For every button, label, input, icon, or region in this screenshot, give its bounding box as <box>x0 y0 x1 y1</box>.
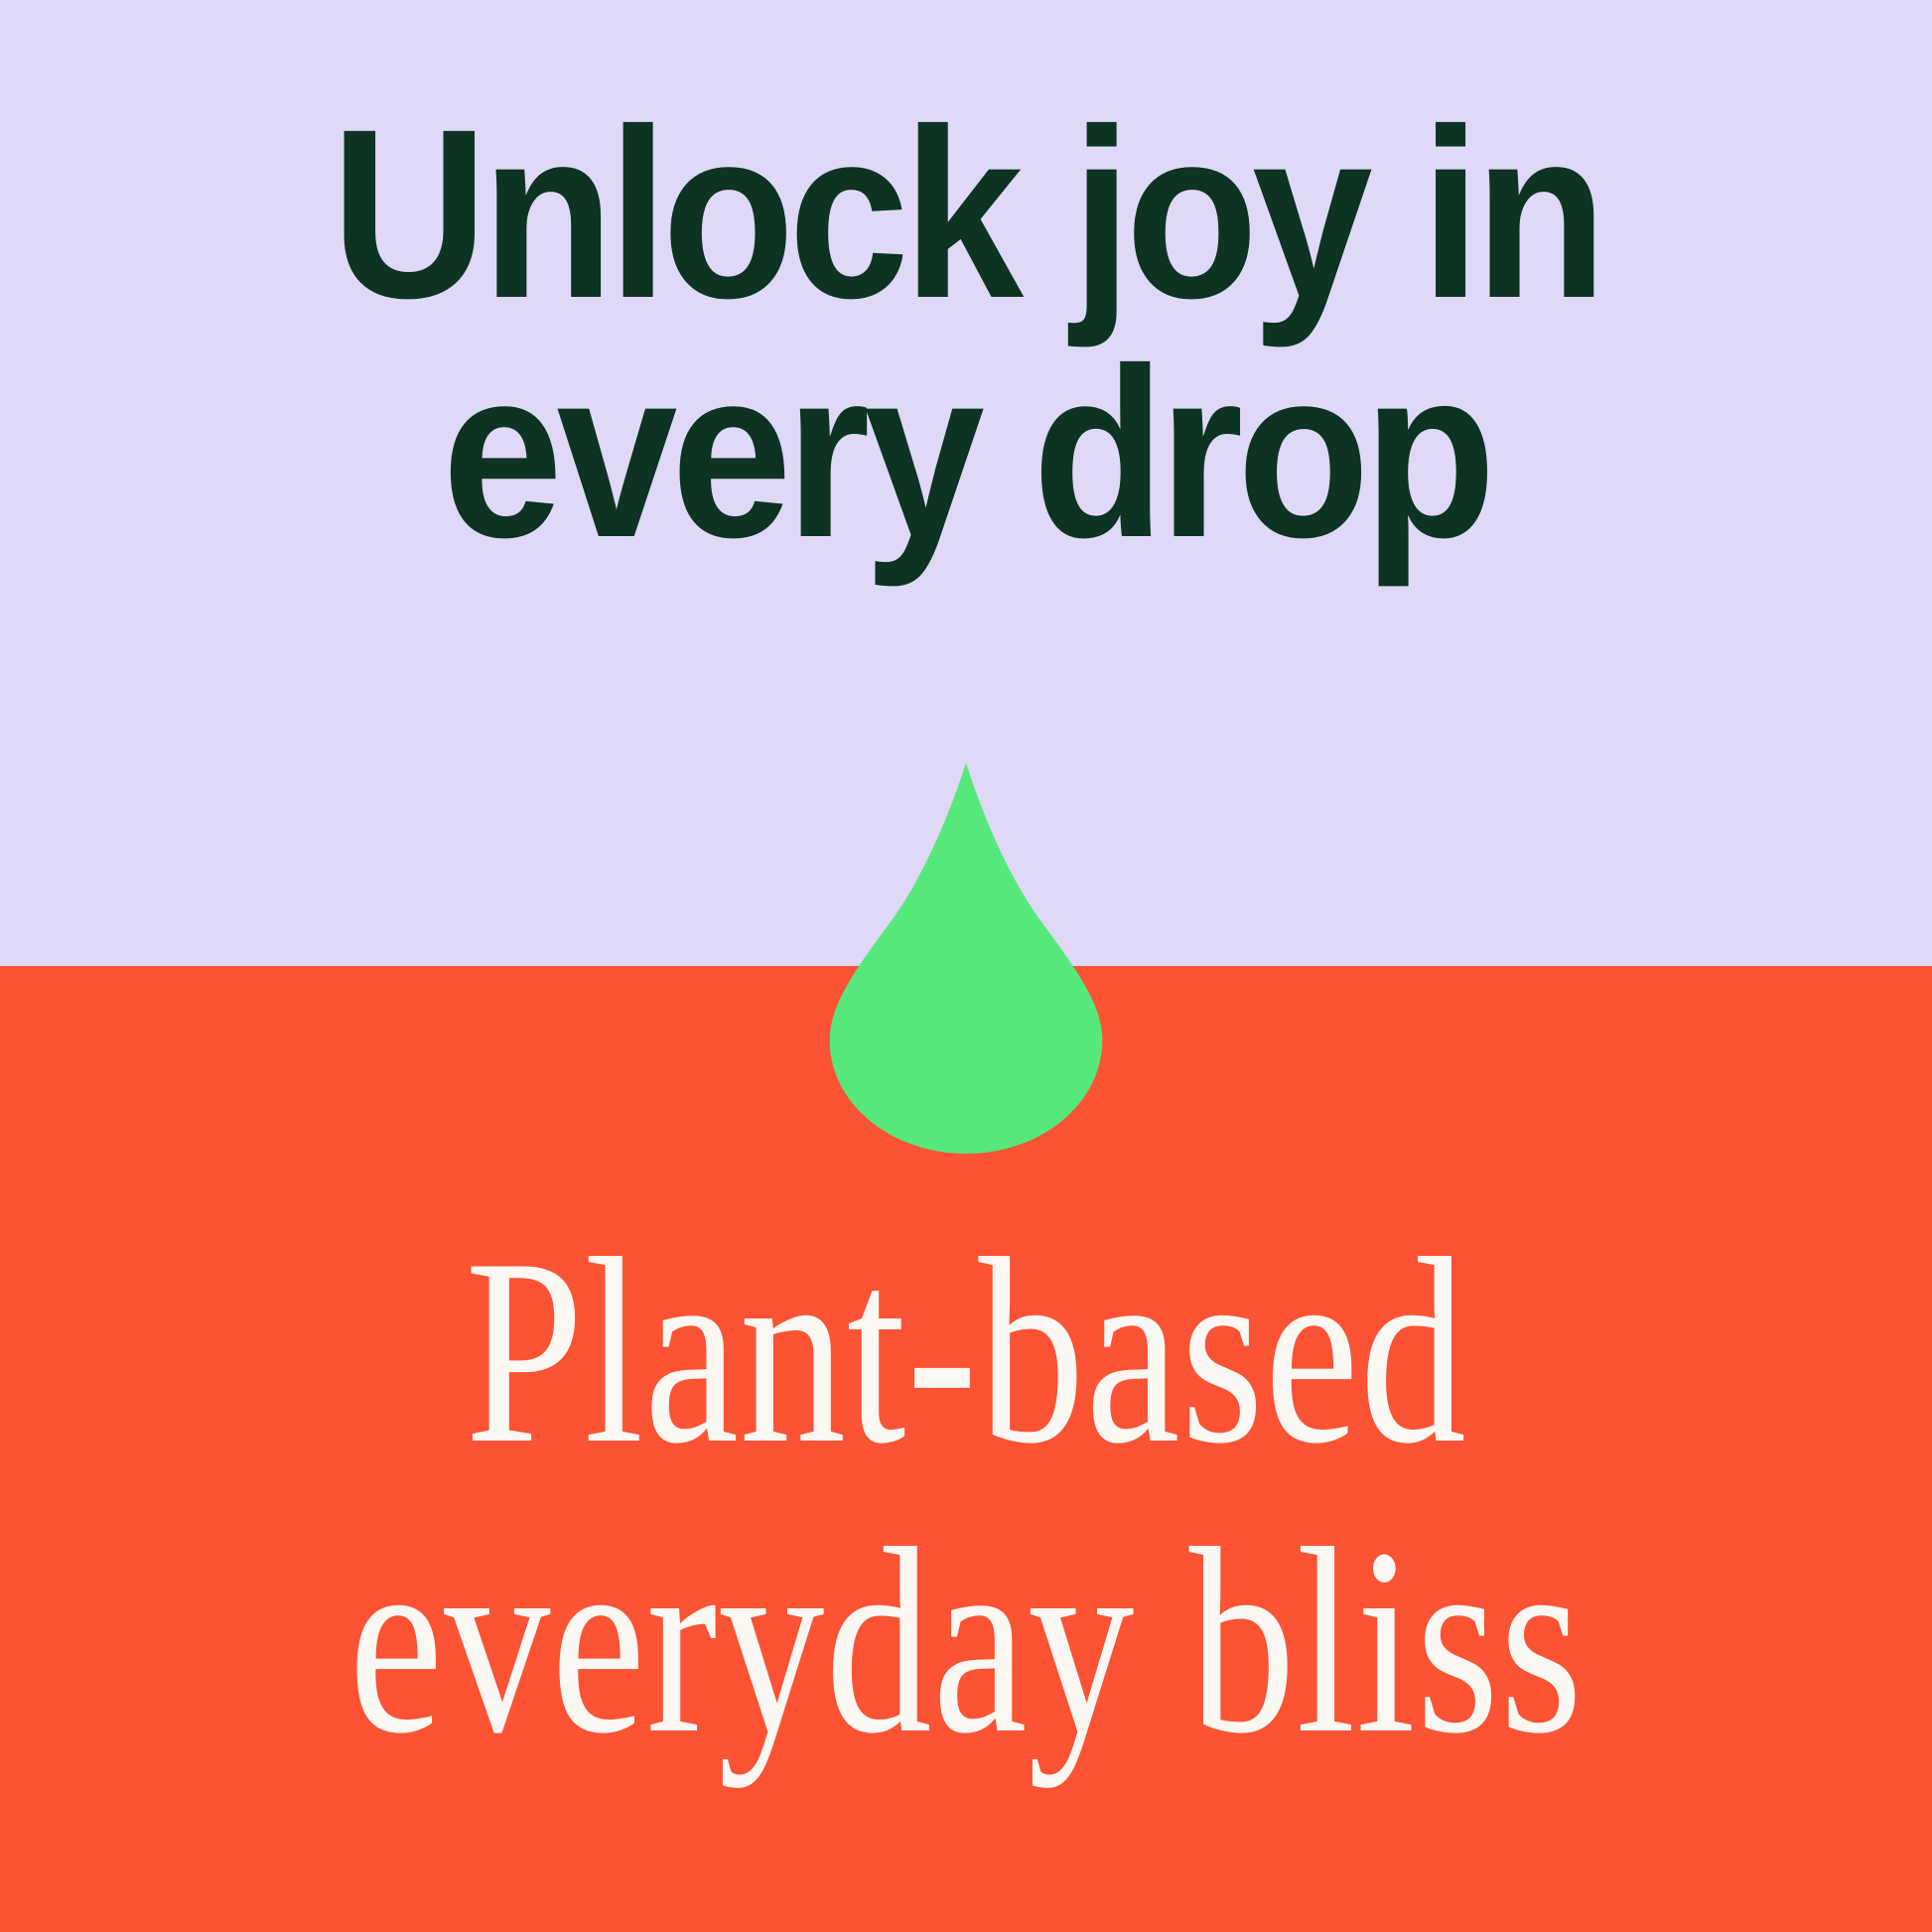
headline-line-2: every drop <box>96 335 1835 574</box>
subheadline: Plant-based everyday bliss <box>194 1206 1739 1786</box>
subheadline-line-1: Plant-based <box>194 1206 1739 1496</box>
headline-line-1: Unlock joy in <box>96 95 1835 335</box>
poster-canvas: Unlock joy in every drop Plant-based eve… <box>0 0 1932 1932</box>
water-drop-icon <box>827 760 1105 1156</box>
water-drop-graphic <box>827 760 1105 1156</box>
headline: Unlock joy in every drop <box>96 95 1835 573</box>
subheadline-line-2: everyday bliss <box>194 1496 1739 1786</box>
